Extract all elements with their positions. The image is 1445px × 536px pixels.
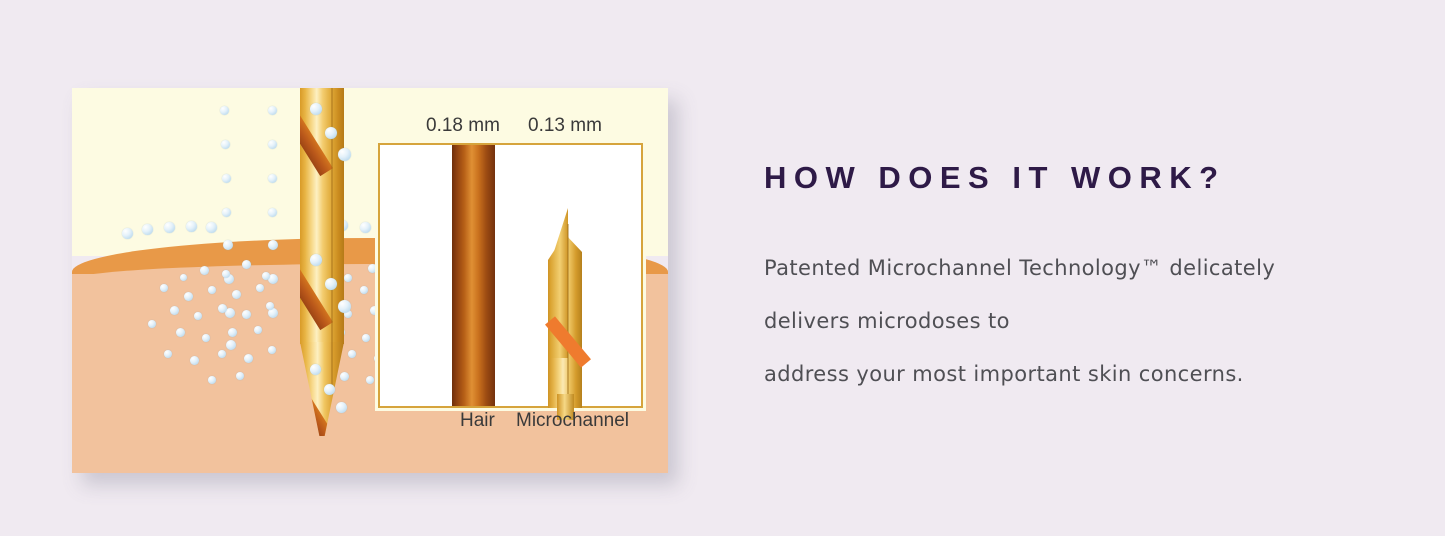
droplet bbox=[242, 260, 251, 269]
droplet bbox=[164, 222, 175, 233]
droplet bbox=[310, 103, 322, 115]
droplet bbox=[184, 292, 193, 301]
droplet bbox=[221, 140, 230, 149]
needle-tip bbox=[300, 342, 344, 436]
droplet bbox=[268, 346, 276, 354]
droplet bbox=[325, 278, 337, 290]
droplet bbox=[226, 340, 236, 350]
droplet bbox=[242, 310, 251, 319]
droplet bbox=[344, 274, 352, 282]
droplet bbox=[268, 208, 277, 217]
droplet bbox=[220, 106, 229, 115]
page-title: HOW DOES IT WORK? bbox=[764, 160, 1384, 196]
droplet bbox=[262, 272, 270, 280]
droplet bbox=[336, 402, 347, 413]
droplet bbox=[268, 174, 277, 183]
inset-comparison-panel bbox=[378, 143, 643, 408]
droplet bbox=[268, 240, 278, 250]
droplet bbox=[208, 286, 216, 294]
droplet bbox=[202, 334, 210, 342]
droplet bbox=[228, 328, 237, 337]
droplet bbox=[208, 376, 216, 384]
droplet bbox=[218, 304, 227, 313]
droplet bbox=[122, 228, 133, 239]
droplet bbox=[218, 350, 226, 358]
copy-block: HOW DOES IT WORK? Patented Microchannel … bbox=[764, 160, 1384, 401]
droplet bbox=[268, 106, 277, 115]
inset-caption-labels: Hair Microchannel bbox=[378, 410, 668, 438]
droplet bbox=[164, 350, 172, 358]
droplet bbox=[348, 350, 356, 358]
droplet bbox=[194, 312, 202, 320]
microchannel-needle-tip bbox=[548, 208, 582, 408]
droplet bbox=[256, 284, 264, 292]
droplet bbox=[338, 300, 351, 313]
measure-label-hair: 0.18 mm bbox=[426, 115, 500, 137]
illustration-card: 0.18 mm 0.13 mm Hair Microchannel bbox=[72, 88, 668, 473]
caption-label-microchannel: Microchannel bbox=[516, 410, 629, 432]
droplet bbox=[310, 254, 322, 266]
hair-cross-section bbox=[452, 145, 495, 406]
inset-measure-labels: 0.18 mm 0.13 mm bbox=[378, 115, 643, 141]
droplet bbox=[148, 320, 156, 328]
droplet bbox=[200, 266, 209, 275]
droplet bbox=[325, 127, 337, 139]
droplet bbox=[310, 364, 321, 375]
droplet bbox=[362, 334, 370, 342]
body-line-2: delivers microdoses to bbox=[764, 295, 1384, 348]
droplet bbox=[360, 222, 371, 233]
droplet bbox=[176, 328, 185, 337]
droplet bbox=[232, 290, 241, 299]
droplet bbox=[360, 286, 368, 294]
droplet bbox=[222, 174, 231, 183]
droplet bbox=[244, 354, 253, 363]
droplet bbox=[170, 306, 179, 315]
caption-label-hair: Hair bbox=[460, 410, 495, 432]
droplet bbox=[266, 302, 274, 310]
needle-edge-highlight bbox=[567, 224, 569, 408]
body-line-1: Patented Microchannel Technology™ delica… bbox=[764, 242, 1384, 295]
body-line-3: address your most important skin concern… bbox=[764, 348, 1384, 401]
droplet bbox=[254, 326, 262, 334]
droplet bbox=[236, 372, 244, 380]
microneedle bbox=[300, 88, 344, 436]
droplet bbox=[142, 224, 153, 235]
droplet bbox=[368, 264, 377, 273]
droplet bbox=[268, 140, 277, 149]
droplet bbox=[324, 384, 335, 395]
droplet bbox=[222, 270, 230, 278]
droplet bbox=[160, 284, 168, 292]
droplet bbox=[186, 221, 197, 232]
droplet bbox=[190, 356, 199, 365]
droplet bbox=[222, 208, 231, 217]
droplet bbox=[206, 222, 217, 233]
droplet bbox=[180, 274, 187, 281]
measure-label-microchannel: 0.13 mm bbox=[528, 115, 602, 137]
droplet bbox=[223, 240, 233, 250]
droplet bbox=[338, 148, 351, 161]
droplet bbox=[366, 376, 374, 384]
